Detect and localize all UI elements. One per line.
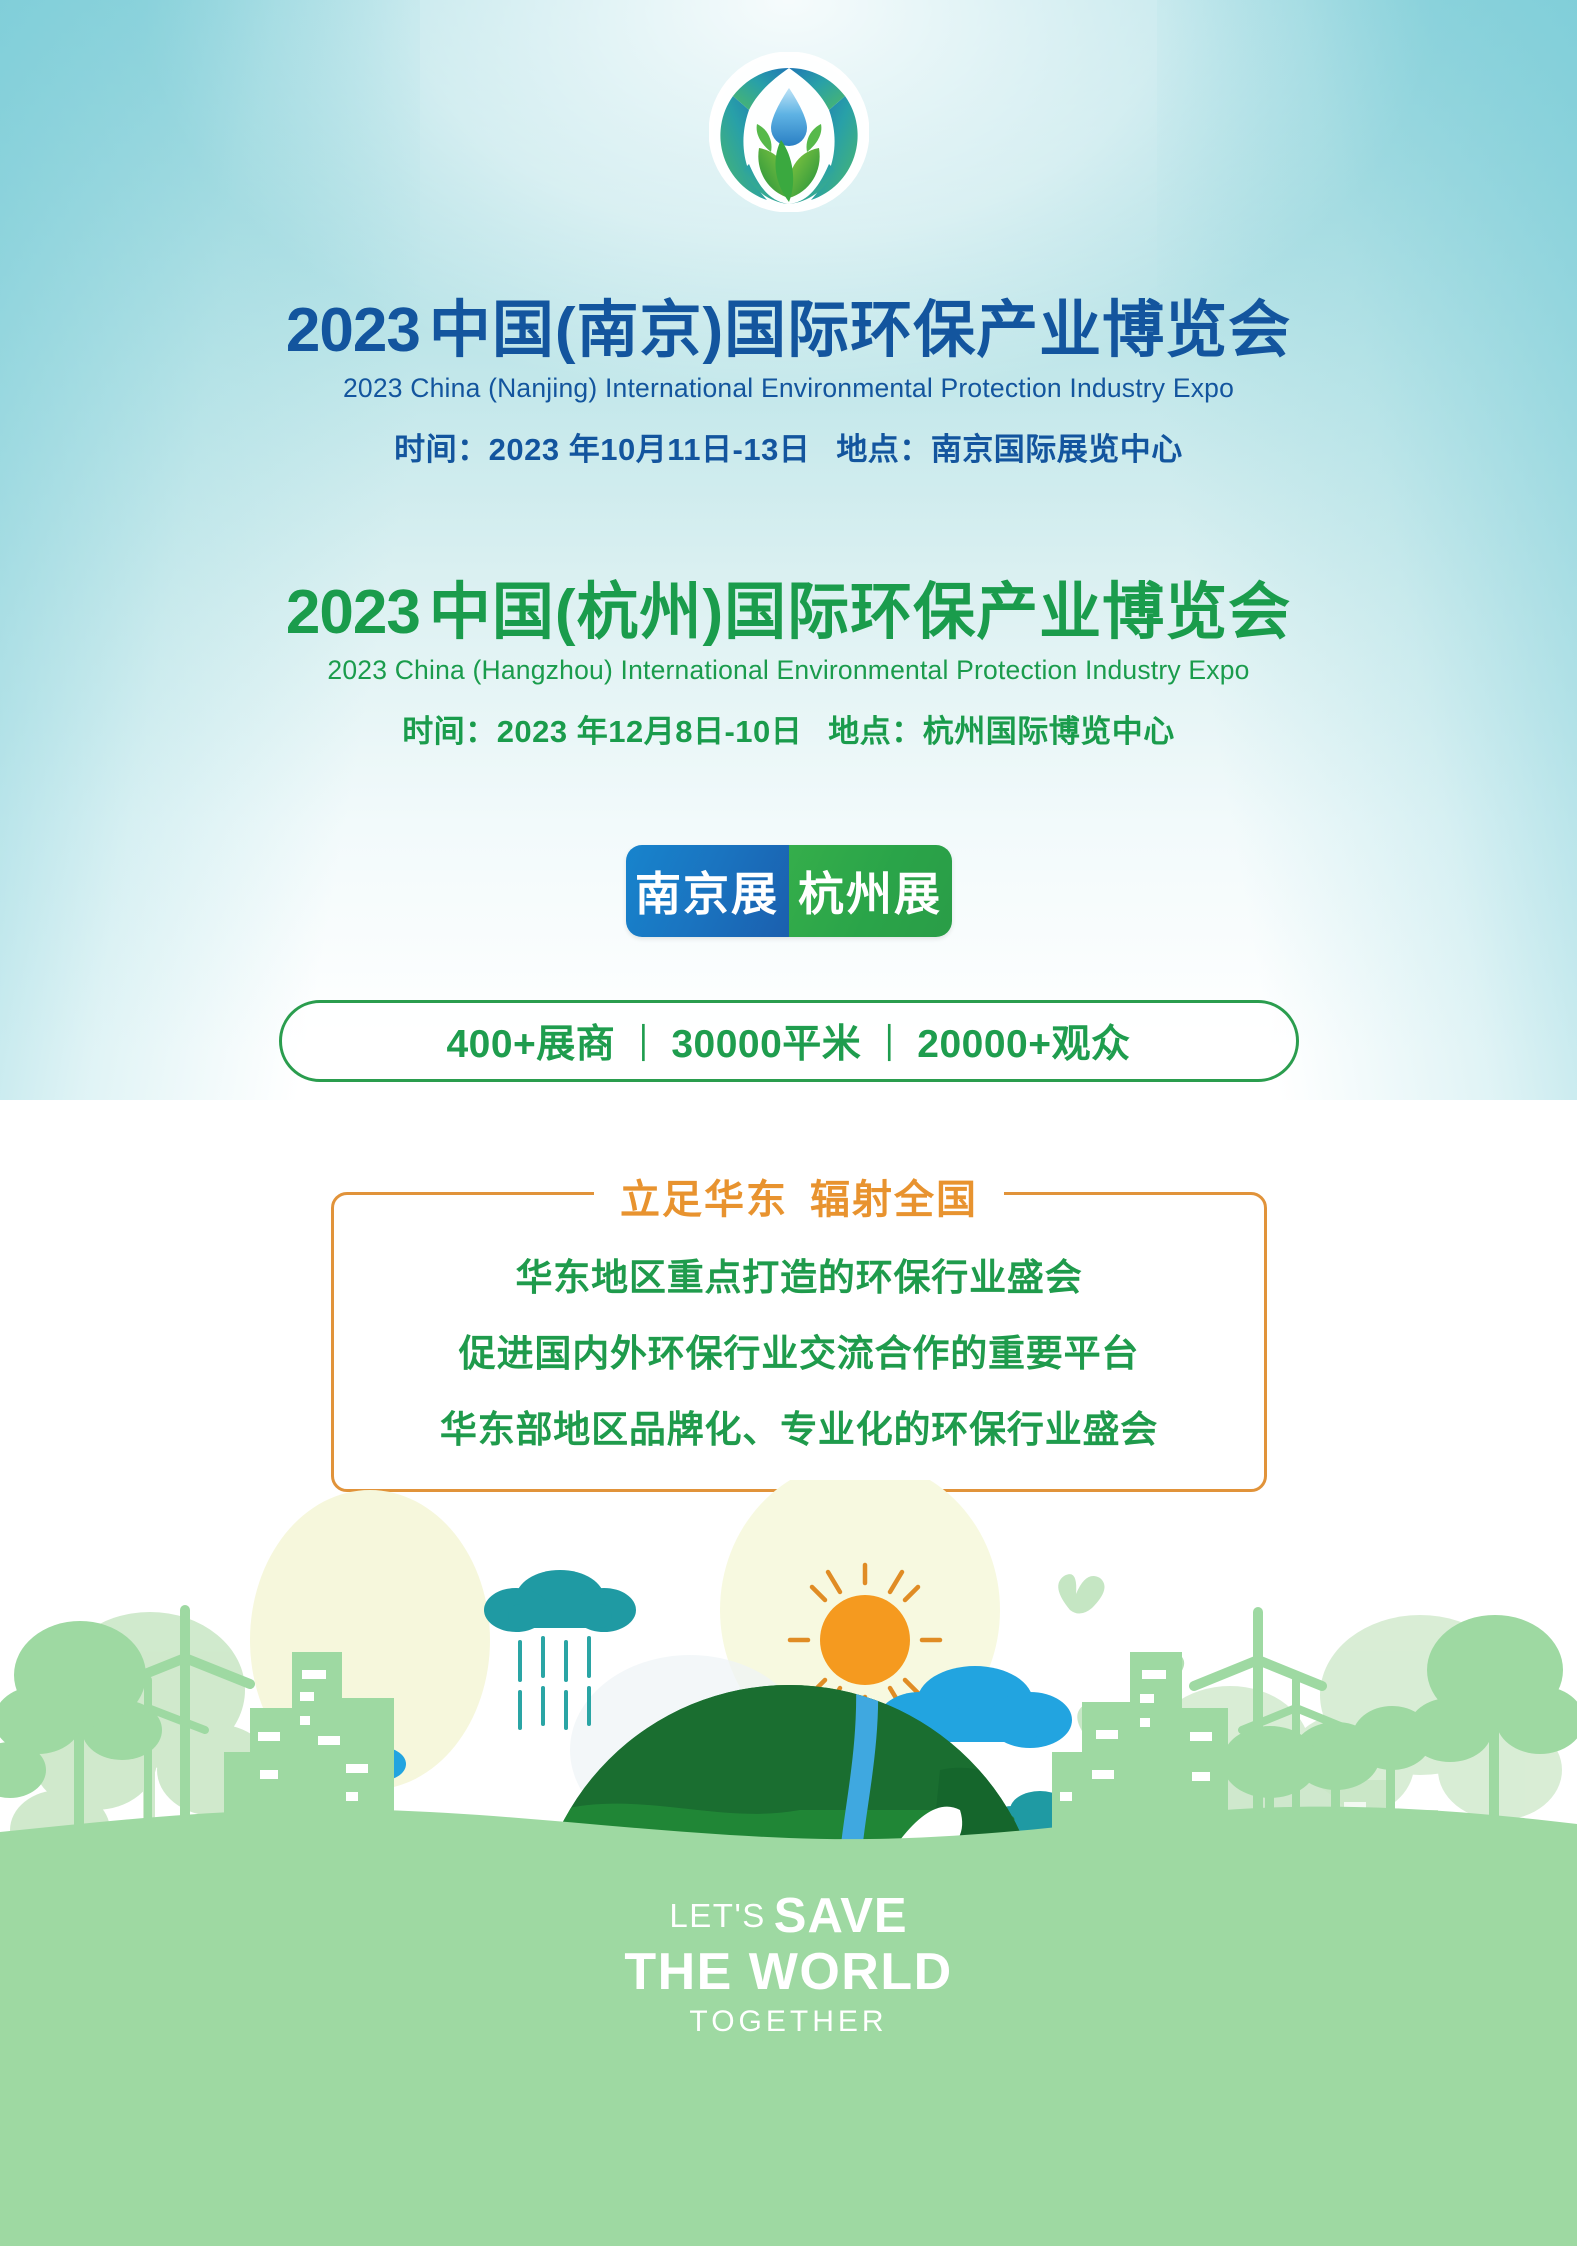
nanjing-cn-year: 2023 (286, 296, 429, 365)
poster-canvas: 2023中国(南京)国际环保产业博览会 2023 China (Nanjing)… (0, 0, 1577, 2246)
stat-separator: ｜ (861, 1015, 917, 1067)
butterfly-icon (1058, 1574, 1104, 1613)
highlight-line: 华东部地区品牌化、专业化的环保行业盛会 (440, 1399, 1158, 1453)
highlight-box: 立足华东辐射全国 华东地区重点打造的环保行业盛会 促进国内外环保行业交流合作的重… (331, 1192, 1267, 1492)
sky-gradient-left (0, 0, 420, 1100)
highlight-title-part1: 立足华东 (620, 1178, 788, 1222)
nanjing-date-value: 2023 年10月11日-13日 (489, 432, 811, 467)
stats-pill: 400+展商 ｜ 30000平米 ｜ 20000+观众 (279, 1000, 1299, 1082)
eco-scene-svg (0, 1480, 1577, 2246)
nanjing-expo-button[interactable]: 南京展 (626, 845, 789, 937)
hangzhou-expo-button[interactable]: 杭州展 (789, 845, 952, 937)
stat-visitors: 20000+观众 (917, 1013, 1130, 1069)
hangzhou-venue-label: 地点： (828, 714, 923, 749)
highlight-title-part2: 辐射全国 (810, 1178, 978, 1222)
hangzhou-cn-year: 2023 (286, 578, 429, 647)
nanjing-venue-label: 地点： (836, 432, 931, 467)
nanjing-cn-title: 2023中国(南京)国际环保产业博览会 (0, 298, 1577, 365)
expo-logo (709, 52, 869, 212)
hangzhou-venue-value: 杭州国际博览中心 (923, 714, 1175, 749)
rain-drops (520, 1638, 589, 1728)
hangzhou-cn-title: 2023中国(杭州)国际环保产业博览会 (0, 580, 1577, 647)
stat-area: 30000平米 (671, 1013, 861, 1069)
nanjing-venue-value: 南京国际展览中心 (931, 432, 1183, 467)
hangzhou-date-label: 时间： (402, 714, 497, 749)
hangzhou-en-title: 2023 China (Hangzhou) International Envi… (0, 655, 1577, 686)
nanjing-en-title: 2023 China (Nanjing) International Envir… (0, 373, 1577, 404)
highlight-line: 华东地区重点打造的环保行业盛会 (516, 1247, 1083, 1301)
nanjing-meta-line: 时间：2023 年10月11日-13日地点：南京国际展览中心 (0, 424, 1577, 469)
hangzhou-meta-line: 时间：2023 年12月8日-10日地点：杭州国际博览中心 (0, 706, 1577, 751)
nanjing-date-label: 时间： (394, 432, 489, 467)
hangzhou-title-block: 2023中国(杭州)国际环保产业博览会 2023 China (Hangzhou… (0, 580, 1577, 751)
ground-hill (0, 1807, 1577, 2246)
stat-separator: ｜ (615, 1015, 671, 1067)
stat-exhibitors: 400+展商 (446, 1013, 615, 1069)
sky-gradient-right (1157, 0, 1577, 1100)
highlight-line: 促进国内外环保行业交流合作的重要平台 (459, 1323, 1139, 1377)
eco-illustration (0, 1480, 1577, 2246)
hangzhou-cn-title-text: 中国(杭州)国际环保产业博览会 (429, 578, 1291, 647)
nanjing-title-block: 2023中国(南京)国际环保产业博览会 2023 China (Nanjing)… (0, 298, 1577, 469)
hangzhou-date-value: 2023 年12月8日-10日 (497, 714, 803, 749)
highlight-box-lines: 华东地区重点打造的环保行业盛会 促进国内外环保行业交流合作的重要平台 华东部地区… (334, 1247, 1264, 1453)
highlight-box-title: 立足华东辐射全国 (594, 1167, 1004, 1225)
eco-water-leaf-emblem-icon (709, 52, 869, 212)
nanjing-cn-title-text: 中国(南京)国际环保产业博览会 (429, 296, 1291, 365)
city-toggle-group[interactable]: 南京展 杭州展 (626, 845, 952, 937)
